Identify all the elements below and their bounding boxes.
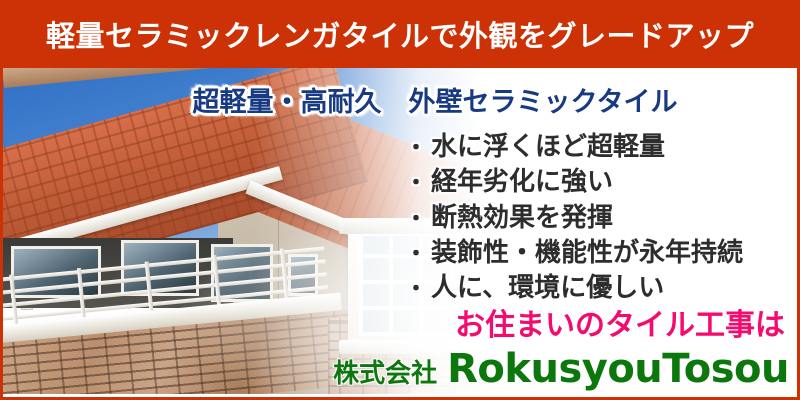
bullet-dot-icon: ・ xyxy=(405,169,427,198)
subtitle-headline: 超軽量・高耐久 外壁セラミックタイル xyxy=(3,80,797,119)
company-signature: 株式会社 RokusyouTosou xyxy=(3,346,797,392)
feature-list-item: ・ 装飾性・機能性が永年持続 xyxy=(405,236,743,270)
feature-list-item: ・ 経年劣化に強い xyxy=(405,165,743,199)
bullet-dot-icon: ・ xyxy=(405,134,427,163)
bullet-dot-icon: ・ xyxy=(405,205,427,234)
feature-list: ・ 水に浮くほど超軽量 ・ 経年劣化に強い ・ 断熱効果を発揮 ・ 装飾性・機能… xyxy=(405,130,743,306)
feature-list-item: ・ 水に浮くほど超軽量 xyxy=(405,130,743,164)
bullet-dot-icon: ・ xyxy=(405,240,427,269)
header-band: 軽量セラミックレンガタイルで外観をグレードアップ xyxy=(0,0,800,68)
advertisement-banner: 軽量セラミックレンガタイルで外観をグレードアップ xyxy=(0,0,800,400)
feature-list-item-label: 装飾性・機能性が永年持続 xyxy=(431,236,743,270)
body-frame: 超軽量・高耐久 外壁セラミックタイル ・ 水に浮くほど超軽量 ・ 経年劣化に強い… xyxy=(0,68,800,400)
feature-list-item-label: 経年劣化に強い xyxy=(431,165,613,199)
feature-list-item-label: 断熱効果を発揮 xyxy=(431,201,613,235)
feature-list-item: ・ 断熱効果を発揮 xyxy=(405,201,743,235)
header-title: 軽量セラミックレンガタイルで外観をグレードアップ xyxy=(46,13,754,55)
feature-list-item-label: 水に浮くほど超軽量 xyxy=(431,130,665,164)
company-prefix-label: 株式会社 xyxy=(333,353,437,390)
company-name-label: RokusyouTosou xyxy=(447,346,789,392)
call-to-action-tagline: お住まいのタイル工事は xyxy=(3,300,797,344)
